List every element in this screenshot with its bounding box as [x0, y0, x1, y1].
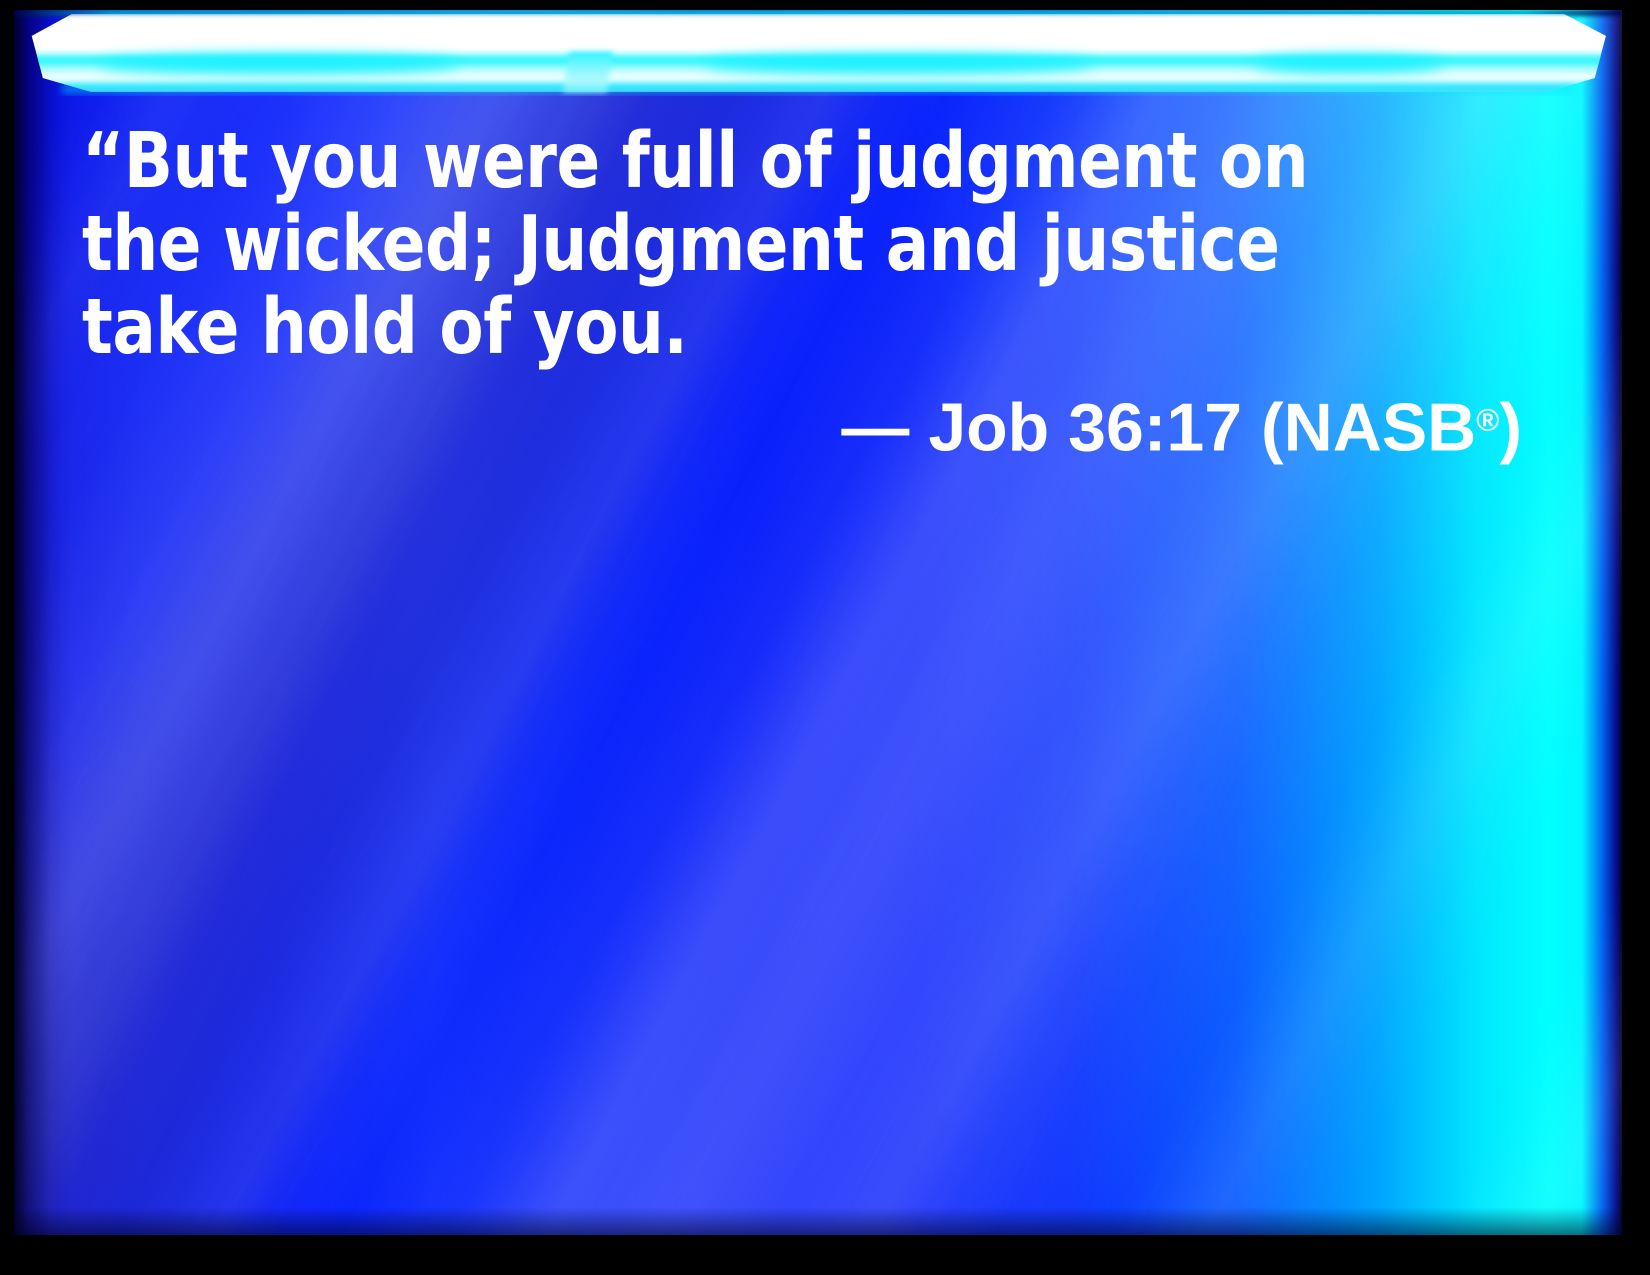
text-layer: “But you were full of judgment on the wi…: [14, 10, 1622, 1235]
verse-quote-text: “But you were full of judgment on the wi…: [82, 120, 1421, 369]
attribution-book: Job: [928, 389, 1049, 465]
attribution-translation-close: ): [1499, 389, 1522, 465]
verse-attribution: — Job 36:17 (NASB®): [82, 380, 1522, 468]
attribution-translation-open: (NASB: [1261, 389, 1476, 465]
registered-trademark-icon: ®: [1476, 403, 1499, 438]
attribution-em-dash: —: [841, 389, 909, 465]
slide-frame: “But you were full of judgment on the wi…: [0, 0, 1650, 1275]
slide-canvas: “But you were full of judgment on the wi…: [14, 10, 1622, 1235]
attribution-reference: 36:17: [1068, 389, 1242, 465]
